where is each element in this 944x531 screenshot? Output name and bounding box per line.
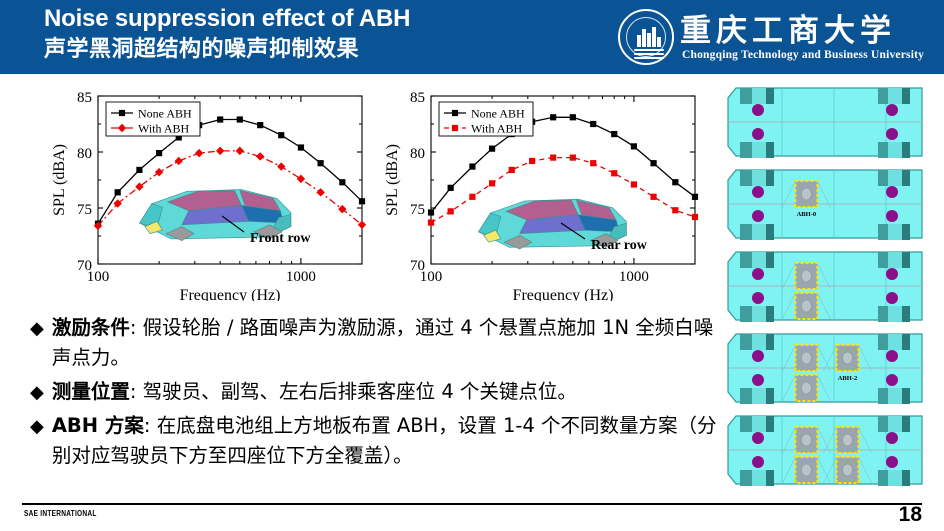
bullet-body: : 驾驶员、副驾、左右后排乘客座位 4 个关键点位。 — [130, 380, 577, 403]
bullet-text: 激励条件: 假设轮胎 / 路面噪声为激励源，通过 4 个悬置点施加 1N 全频白… — [52, 313, 730, 373]
abh-pit-icon — [801, 300, 811, 312]
sill-block — [766, 252, 774, 268]
sill-block — [740, 416, 752, 432]
sill-block — [902, 334, 910, 350]
sill-block — [902, 306, 910, 322]
sill-block — [740, 388, 752, 404]
seat-measurement-point — [752, 432, 764, 444]
data-point — [631, 143, 637, 149]
data-point — [611, 170, 617, 176]
y-tick-label: 80 — [77, 146, 92, 162]
data-point — [237, 116, 243, 122]
abh-label: ABH-1 — [797, 405, 817, 406]
sill-block — [752, 470, 766, 486]
footer-brand: SAE INTERNATIONAL — [24, 509, 97, 518]
abh-label: ABH-2 — [838, 375, 858, 382]
data-point — [317, 160, 323, 166]
sill-block — [752, 306, 766, 322]
sill-block — [902, 88, 910, 104]
y-tick-label: 75 — [77, 202, 92, 218]
legend-label: With ABH — [138, 122, 190, 136]
sill-block — [888, 334, 902, 350]
sill-block — [766, 470, 774, 486]
data-point — [489, 180, 495, 186]
data-point — [650, 194, 656, 200]
seat-measurement-point — [886, 104, 898, 116]
bullet-label: 激励条件 — [52, 316, 130, 339]
bullet-text: ABH 方案: 在底盘电池组上方地板布置 ABH，设置 1-4 个不同数量方案（… — [52, 411, 730, 471]
x-axis-label: Frequency (Hz) — [513, 287, 614, 301]
x-tick-label: 1000 — [619, 269, 649, 285]
chart-front-row-svg: 707580851001000Frequency (Hz)SPL (dBA)Fr… — [50, 86, 370, 301]
seat-measurement-point — [752, 128, 764, 140]
seat-measurement-point — [886, 268, 898, 280]
sill-block — [878, 252, 888, 268]
panel-4-svg: ABH-0ABH-2ABH-1ABH-3 — [726, 414, 926, 488]
abh-label: ABH-3 — [838, 487, 858, 488]
sill-block — [752, 224, 766, 240]
footer-divider — [22, 503, 922, 505]
legend-marker — [119, 110, 125, 116]
sill-block — [902, 252, 910, 268]
seat-measurement-point — [886, 128, 898, 140]
data-point — [550, 114, 556, 120]
abh-pit-icon — [801, 464, 811, 476]
sill-block — [878, 470, 888, 486]
data-point — [448, 185, 454, 191]
sill-block — [878, 88, 888, 104]
data-point — [509, 167, 515, 173]
sill-block — [740, 224, 752, 240]
sill-block — [740, 306, 752, 322]
data-point — [570, 155, 576, 161]
sill-block — [878, 224, 888, 240]
chart-annotation-label: Rear row — [591, 238, 648, 253]
seat-measurement-point — [752, 350, 764, 362]
seat-measurement-point — [886, 210, 898, 222]
data-point — [489, 146, 495, 152]
data-point — [611, 131, 617, 137]
bullet-text: 测量位置: 驾驶员、副驾、左右后排乘客座位 4 个关键点位。 — [52, 377, 577, 407]
sill-block — [902, 416, 910, 432]
sill-block — [752, 88, 766, 104]
seat-measurement-point — [886, 456, 898, 468]
bullet-label: 测量位置 — [52, 380, 130, 403]
data-point — [428, 219, 434, 225]
abh-pit-icon — [801, 270, 811, 282]
sill-block — [766, 388, 774, 404]
legend-label: With ABH — [471, 122, 523, 136]
legend-marker — [452, 125, 458, 131]
sill-block — [766, 142, 774, 158]
diamond-bullet-icon: ◆ — [30, 377, 44, 407]
data-point — [428, 209, 434, 215]
data-point — [339, 179, 345, 185]
abh-layout-panel-4: ABH-0ABH-2ABH-1ABH-3 — [726, 414, 940, 493]
diamond-bullet-icon: ◆ — [30, 313, 44, 343]
sill-block — [752, 170, 766, 186]
list-item: ◆ 测量位置: 驾驶员、副驾、左右后排乘客座位 4 个关键点位。 — [30, 377, 730, 407]
abh-pit-icon — [801, 352, 811, 364]
page-title-en: Noise suppression effect of ABH — [44, 4, 410, 34]
chart-annotation-label: Front row — [250, 231, 311, 246]
bullet-label: ABH 方案 — [52, 414, 144, 437]
abh-layout-panel-stack: ABH-0 ABH-0ABH-1 ABH-0ABH-2ABH-1 ABH-0AB… — [726, 86, 940, 496]
sill-block — [752, 334, 766, 350]
seat-measurement-point — [886, 374, 898, 386]
sill-block — [878, 334, 888, 350]
sill-block — [888, 170, 902, 186]
seat-measurement-point — [886, 432, 898, 444]
abh-layout-panel-3: ABH-0ABH-2ABH-1 — [726, 332, 940, 411]
data-point — [359, 198, 365, 204]
abh-pit-icon — [801, 188, 811, 200]
sill-block — [766, 170, 774, 186]
seat-measurement-point — [886, 292, 898, 304]
bullet-body: : 在底盘电池组上方地板布置 ABH，设置 1-4 个不同数量方案（分别对应驾驶… — [52, 414, 717, 467]
sill-block — [740, 252, 752, 268]
data-point — [156, 150, 162, 156]
data-point — [298, 144, 304, 150]
sill-block — [752, 416, 766, 432]
sill-block — [740, 88, 752, 104]
sill-block — [888, 388, 902, 404]
sill-block — [888, 224, 902, 240]
sill-block — [740, 170, 752, 186]
y-tick-label: 85 — [410, 90, 425, 106]
data-point — [550, 155, 556, 161]
data-point — [650, 160, 656, 166]
page-number: 18 — [899, 503, 922, 527]
seat-measurement-point — [886, 186, 898, 198]
data-point — [115, 189, 121, 195]
y-tick-label: 75 — [410, 202, 425, 218]
seat-measurement-point — [752, 456, 764, 468]
sill-block — [878, 388, 888, 404]
y-tick-label: 85 — [77, 90, 92, 106]
slide-header: Noise suppression effect of ABH 声学黑洞超结构的… — [0, 0, 944, 74]
abh-pit-icon — [842, 464, 852, 476]
abh-label: ABH-1 — [797, 487, 817, 488]
sill-block — [878, 170, 888, 186]
sill-block — [888, 416, 902, 432]
sill-block — [878, 142, 888, 158]
sill-block — [752, 252, 766, 268]
logo-name-zh: 重庆工商大学 — [680, 5, 896, 50]
panel-0-svg — [726, 86, 926, 160]
sill-block — [766, 334, 774, 350]
abh-layout-panel-0 — [726, 86, 940, 165]
panel-3-svg: ABH-0ABH-2ABH-1 — [726, 332, 926, 406]
data-point — [136, 167, 142, 173]
x-tick-label: 100 — [87, 269, 110, 285]
abh-label: ABH-1 — [797, 323, 817, 324]
sill-block — [888, 252, 902, 268]
abh-pit-icon — [842, 434, 852, 446]
legend-label: None ABH — [471, 107, 525, 121]
seal-building-icon — [637, 27, 661, 47]
seat-measurement-point — [752, 210, 764, 222]
y-tick-label: 80 — [410, 146, 425, 162]
abh-layout-panel-2: ABH-0ABH-1 — [726, 250, 940, 329]
chart-front-row: 707580851001000Frequency (Hz)SPL (dBA)Fr… — [50, 86, 370, 301]
university-seal-icon — [618, 9, 674, 65]
data-point — [448, 208, 454, 214]
sill-block — [766, 88, 774, 104]
bullet-list: ◆ 激励条件: 假设轮胎 / 路面噪声为激励源，通过 4 个悬置点施加 1N 全… — [30, 313, 730, 475]
abh-pit-icon — [801, 434, 811, 446]
sill-block — [888, 306, 902, 322]
legend-marker — [452, 110, 458, 116]
chart-rear-row: 707580851001000Frequency (Hz)SPL (dBA)Re… — [383, 86, 703, 301]
x-axis-label: Frequency (Hz) — [180, 287, 281, 301]
data-point — [672, 207, 678, 213]
seat-measurement-point — [752, 268, 764, 280]
abh-label: ABH-0 — [797, 211, 817, 218]
sill-block — [740, 334, 752, 350]
sill-block — [740, 470, 752, 486]
data-point — [692, 194, 698, 200]
y-axis-label: SPL (dBA) — [51, 144, 68, 216]
sill-block — [752, 142, 766, 158]
seat-measurement-point — [752, 104, 764, 116]
sill-block — [766, 306, 774, 322]
data-point — [570, 114, 576, 120]
data-point — [672, 179, 678, 185]
sill-block — [902, 470, 910, 486]
list-item: ◆ ABH 方案: 在底盘电池组上方地板布置 ABH，设置 1-4 个不同数量方… — [30, 411, 730, 471]
data-point — [590, 121, 596, 127]
sill-block — [752, 388, 766, 404]
data-point — [278, 132, 284, 138]
panel-2-svg: ABH-0ABH-1 — [726, 250, 926, 324]
chart-rear-row-svg: 707580851001000Frequency (Hz)SPL (dBA)Re… — [383, 86, 703, 301]
sill-block — [902, 224, 910, 240]
sill-block — [888, 470, 902, 486]
data-point — [257, 122, 263, 128]
sill-block — [888, 142, 902, 158]
data-point — [469, 194, 475, 200]
data-point — [217, 116, 223, 122]
sill-block — [888, 88, 902, 104]
data-point — [469, 163, 475, 169]
seat-measurement-point — [886, 350, 898, 362]
x-tick-label: 1000 — [286, 269, 316, 285]
data-point — [590, 160, 596, 166]
sill-block — [740, 142, 752, 158]
abh-layout-panel-1: ABH-0 — [726, 168, 940, 247]
x-tick-label: 100 — [420, 269, 443, 285]
sill-block — [766, 416, 774, 432]
data-point — [529, 158, 535, 164]
abh-pit-icon — [801, 382, 811, 394]
sill-block — [902, 170, 910, 186]
legend-label: None ABH — [138, 107, 192, 121]
abh-pit-icon — [842, 352, 852, 364]
sill-block — [878, 416, 888, 432]
bullet-body: : 假设轮胎 / 路面噪声为激励源，通过 4 个悬置点施加 1N 全频白噪声点力… — [52, 316, 713, 369]
title-block: Noise suppression effect of ABH 声学黑洞超结构的… — [44, 4, 410, 64]
sill-block — [878, 306, 888, 322]
list-item: ◆ 激励条件: 假设轮胎 / 路面噪声为激励源，通过 4 个悬置点施加 1N 全… — [30, 313, 730, 373]
y-axis-label: SPL (dBA) — [384, 144, 401, 216]
university-logo: 重庆工商大学 Chongqing Technology and Business… — [606, 3, 936, 71]
page-title-zh: 声学黑洞超结构的噪声抑制效果 — [44, 34, 410, 64]
seat-measurement-point — [752, 292, 764, 304]
logo-name-en: Chongqing Technology and Business Univer… — [682, 49, 924, 61]
data-point — [631, 181, 637, 187]
seal-wave-icon — [634, 49, 664, 59]
seat-measurement-point — [752, 374, 764, 386]
sill-block — [902, 142, 910, 158]
data-point — [692, 214, 698, 220]
sill-block — [902, 388, 910, 404]
diamond-bullet-icon: ◆ — [30, 411, 44, 441]
panel-1-svg: ABH-0 — [726, 168, 926, 242]
sill-block — [766, 224, 774, 240]
seat-measurement-point — [752, 186, 764, 198]
